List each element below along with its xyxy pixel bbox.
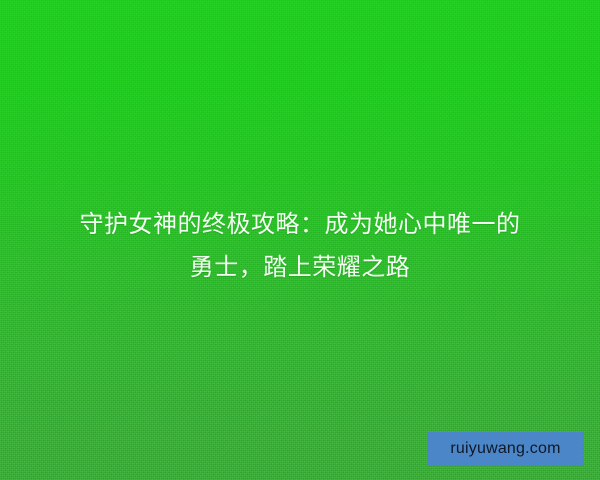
watermark-badge: ruiyuwang.com (428, 432, 583, 466)
headline-text: 守护女神的终极攻略：成为她心中唯一的 勇士，踏上荣耀之路 (0, 203, 600, 289)
poster-canvas: 守护女神的终极攻略：成为她心中唯一的 勇士，踏上荣耀之路 ruiyuwang.c… (0, 0, 600, 480)
watermark-label: ruiyuwang.com (450, 441, 560, 457)
